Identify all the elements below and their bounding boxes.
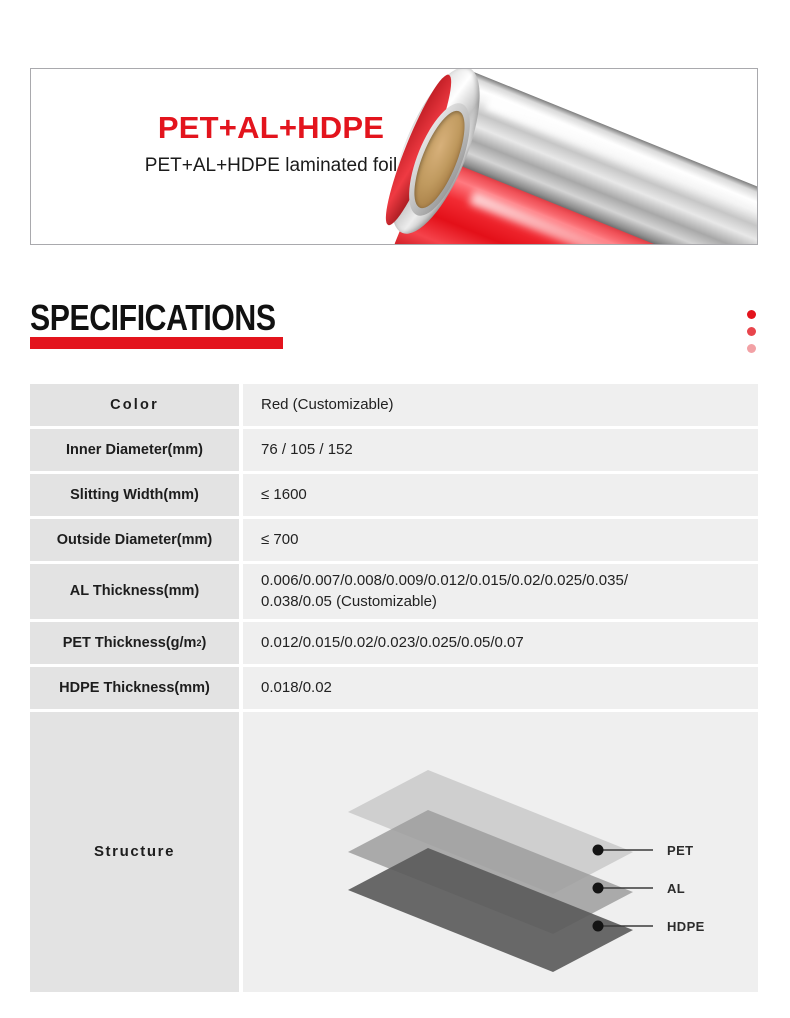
table-row: Slitting Width(mm) ≤ 1600 (30, 474, 758, 516)
spec-value-hdpe-thickness: 0.018/0.02 (243, 667, 758, 709)
table-row: PET Thickness(g/m2) 0.012/0.015/0.02/0.0… (30, 622, 758, 664)
spec-value-outside-diameter: ≤ 700 (243, 519, 758, 561)
hero-text-block: PET+AL+HDPE PET+AL+HDPE laminated foil (71, 111, 471, 178)
section-title-underline (30, 337, 283, 349)
layer-label-hdpe: HDPE (667, 919, 705, 934)
spec-label-pet-prefix: PET Thickness(g/m (63, 634, 197, 652)
spec-label-color: Color (30, 384, 239, 426)
spec-value-al-thickness: 0.006/0.007/0.008/0.009/0.012/0.015/0.02… (243, 564, 758, 619)
page-title: SPECIFICATIONS (30, 300, 276, 336)
spec-value-inner-diameter: 76 / 105 / 152 (243, 429, 758, 471)
spec-label-pet-suffix: ) (201, 634, 206, 652)
spec-value-pet-thickness: 0.012/0.015/0.02/0.023/0.025/0.05/0.07 (243, 622, 758, 664)
table-row: Outside Diameter(mm) ≤ 700 (30, 519, 758, 561)
dot-icon-3 (747, 344, 756, 353)
spec-label-slitting-width: Slitting Width(mm) (30, 474, 239, 516)
structure-diagram: PET AL HDPE (243, 712, 758, 992)
spec-label-structure: Structure (30, 712, 239, 992)
hero-title: PET+AL+HDPE (71, 111, 471, 145)
spec-label-pet-thickness: PET Thickness(g/m2) (30, 622, 239, 664)
leader-dot-al (593, 883, 604, 894)
decorative-dots (747, 310, 756, 353)
leader-dot-pet (593, 845, 604, 856)
spec-label-inner-diameter: Inner Diameter(mm) (30, 429, 239, 471)
table-row: Structure (30, 712, 758, 992)
section-header: SPECIFICATIONS (30, 300, 330, 336)
spec-value-color: Red (Customizable) (243, 384, 758, 426)
spec-label-hdpe-thickness: HDPE Thickness(mm) (30, 667, 239, 709)
dot-icon-2 (747, 327, 756, 336)
structure-diagram-svg: PET AL HDPE (243, 732, 758, 992)
spec-label-outside-diameter: Outside Diameter(mm) (30, 519, 239, 561)
dot-icon-1 (747, 310, 756, 319)
layer-label-al: AL (667, 881, 685, 896)
table-row: Inner Diameter(mm) 76 / 105 / 152 (30, 429, 758, 471)
table-row: AL Thickness(mm) 0.006/0.007/0.008/0.009… (30, 564, 758, 619)
hero-subtitle: PET+AL+HDPE laminated foil (71, 155, 471, 178)
spec-value-slitting-width: ≤ 1600 (243, 474, 758, 516)
hero-banner: PET+AL+HDPE PET+AL+HDPE laminated foil (30, 68, 758, 245)
table-row: Color Red (Customizable) (30, 384, 758, 426)
spec-value-structure: PET AL HDPE (243, 712, 758, 992)
layer-label-pet: PET (667, 843, 693, 858)
specifications-table: Color Red (Customizable) Inner Diameter(… (30, 384, 758, 992)
leader-dot-hdpe (593, 921, 604, 932)
table-row: HDPE Thickness(mm) 0.018/0.02 (30, 667, 758, 709)
spec-label-al-thickness: AL Thickness(mm) (30, 564, 239, 619)
